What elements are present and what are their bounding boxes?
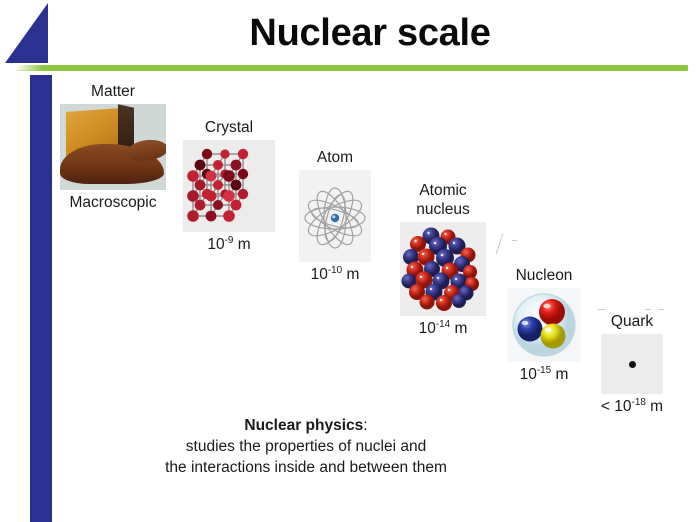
corner-triangle-icon bbox=[4, 3, 48, 63]
scale-item-nucleon: Nucleon bbox=[494, 266, 594, 385]
scale-item-title: Atom bbox=[285, 148, 385, 167]
quark-point-icon bbox=[629, 361, 636, 368]
caption-exponent: -14 bbox=[436, 319, 450, 330]
scale-item-caption: 10-15 m bbox=[494, 365, 594, 385]
quark-image bbox=[601, 334, 663, 394]
caption-base: 10 bbox=[419, 320, 436, 337]
caption-exponent: -18 bbox=[632, 397, 646, 408]
footer-line-3: the interactions inside and between them bbox=[56, 457, 556, 478]
caption-unit: m bbox=[342, 266, 359, 283]
matter-image bbox=[60, 104, 166, 190]
caption-unit: m bbox=[551, 366, 568, 383]
page-title: Nuclear scale bbox=[60, 8, 680, 58]
nucleon-image bbox=[507, 288, 581, 362]
scan-artifact-tick bbox=[598, 309, 606, 310]
scan-artifact-tick bbox=[512, 240, 517, 241]
caption-unit: m bbox=[450, 320, 467, 337]
caption-unit: m bbox=[233, 236, 250, 253]
footer-line-2: studies the properties of nuclei and bbox=[56, 436, 556, 457]
scale-item-title: Atomic nucleus bbox=[395, 181, 491, 219]
scale-item-crystal: Crystal bbox=[174, 118, 284, 255]
atom-image bbox=[299, 170, 371, 262]
scale-item-caption: 10-9 m bbox=[174, 235, 284, 255]
caption-base: 10 bbox=[207, 236, 224, 253]
nucleus-image bbox=[400, 222, 486, 316]
footer-lead-colon: : bbox=[363, 417, 367, 434]
slide-canvas: Nuclear scale Matter Macroscopic Crystal bbox=[0, 0, 696, 522]
caption-base: 10 bbox=[311, 266, 328, 283]
caption-unit: m bbox=[646, 398, 663, 415]
nucleon-quarks-icon bbox=[507, 288, 581, 362]
caption-exponent: -15 bbox=[537, 365, 551, 376]
caption-base: 10 bbox=[520, 366, 537, 383]
caption-prefix: < bbox=[601, 398, 614, 415]
scale-item-title: Nucleon bbox=[494, 266, 594, 285]
scale-item-matter: Matter Macroscopic bbox=[57, 82, 169, 213]
scale-item-atom: Atom 10-10 m bbox=[285, 148, 385, 285]
scale-item-title: Crystal bbox=[174, 118, 284, 137]
left-accent-bar bbox=[30, 75, 52, 522]
nucleus-cluster-icon bbox=[400, 222, 486, 316]
scale-item-quark: Quark < 10-18 m bbox=[580, 312, 684, 417]
scale-item-atomic-nucleus: Atomic nucleus bbox=[388, 181, 498, 339]
scan-artifact-tick bbox=[658, 309, 664, 310]
footer-note: Nuclear physics: studies the properties … bbox=[56, 415, 556, 478]
scale-item-caption: 10-10 m bbox=[285, 265, 385, 285]
scale-item-caption: Macroscopic bbox=[57, 193, 169, 213]
crystal-lattice-icon bbox=[183, 140, 275, 232]
title-divider bbox=[16, 65, 688, 71]
scale-item-title: Quark bbox=[580, 312, 684, 331]
atom-orbital-icon bbox=[299, 170, 371, 262]
scale-item-title: Matter bbox=[57, 82, 169, 101]
footer-line-1: Nuclear physics: bbox=[56, 415, 556, 436]
caption-base: 10 bbox=[614, 398, 631, 415]
caption-exponent: -10 bbox=[328, 265, 342, 276]
scale-item-caption: 10-14 m bbox=[388, 319, 498, 339]
scale-item-caption: < 10-18 m bbox=[580, 397, 684, 417]
footer-lead: Nuclear physics bbox=[244, 417, 363, 434]
scan-artifact-tick bbox=[645, 309, 651, 310]
crystal-image bbox=[183, 140, 275, 232]
